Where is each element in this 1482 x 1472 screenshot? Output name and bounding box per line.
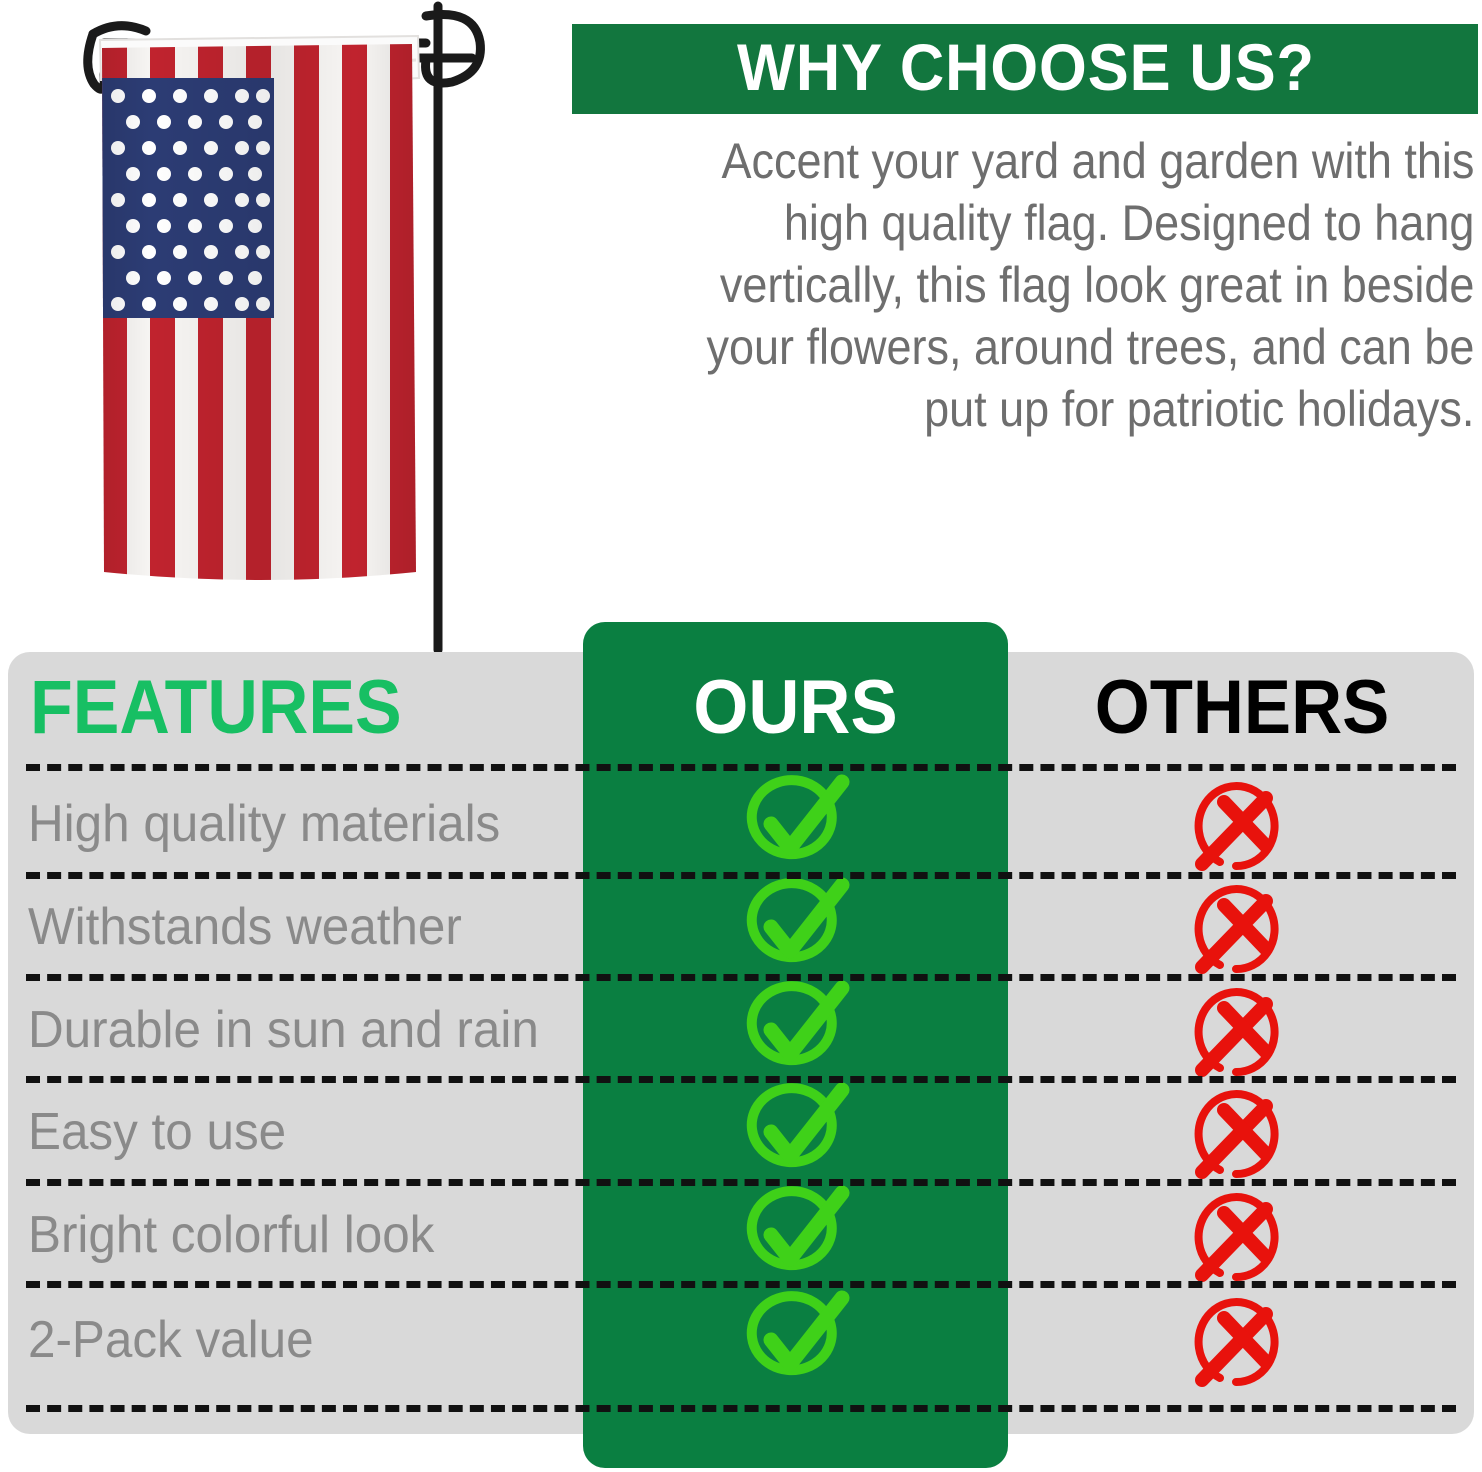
feature-label: Easy to use bbox=[28, 1082, 541, 1182]
row-divider bbox=[26, 1179, 1456, 1186]
x-circle-icon bbox=[1190, 1292, 1294, 1388]
feature-label: Durable in sun and rain bbox=[28, 980, 541, 1080]
ours-cell bbox=[583, 1082, 1008, 1182]
why-choose-us-title: WHY CHOOSE US? bbox=[617, 30, 1435, 104]
row-divider bbox=[26, 974, 1456, 981]
row-divider bbox=[26, 1405, 1456, 1412]
others-cell bbox=[1010, 1290, 1474, 1390]
check-circle-icon bbox=[738, 875, 854, 979]
table-row: Withstands weather bbox=[0, 877, 1482, 977]
garden-flag-image bbox=[60, 0, 500, 660]
ours-cell bbox=[583, 1290, 1008, 1390]
row-divider bbox=[26, 1076, 1456, 1083]
x-circle-icon bbox=[1190, 776, 1294, 872]
table-row: Bright colorful look bbox=[0, 1185, 1482, 1285]
check-circle-icon bbox=[738, 1080, 854, 1184]
table-row: Durable in sun and rain bbox=[0, 980, 1482, 1080]
flag-body bbox=[90, 40, 430, 585]
feature-label: High quality materials bbox=[28, 774, 541, 874]
table-row: 2-Pack value bbox=[0, 1290, 1482, 1390]
x-circle-icon bbox=[1190, 982, 1294, 1078]
x-circle-icon bbox=[1190, 1187, 1294, 1283]
column-header-ours: OURS bbox=[598, 652, 993, 764]
table-row: High quality materials bbox=[0, 774, 1482, 874]
others-cell bbox=[1010, 877, 1474, 977]
comparison-header-row: FEATURES OURS OTHERS bbox=[0, 652, 1482, 764]
x-circle-icon bbox=[1190, 879, 1294, 975]
column-header-others: OTHERS bbox=[1026, 652, 1458, 764]
others-cell bbox=[1010, 774, 1474, 874]
ours-cell bbox=[583, 1185, 1008, 1285]
row-divider bbox=[26, 1281, 1456, 1288]
feature-label: Withstands weather bbox=[28, 877, 541, 977]
row-divider bbox=[26, 764, 1456, 771]
check-circle-icon bbox=[738, 978, 854, 1082]
ours-cell bbox=[583, 877, 1008, 977]
comparison-table: FEATURES OURS OTHERS High quality materi… bbox=[0, 600, 1482, 1472]
check-circle-icon bbox=[738, 1183, 854, 1287]
ours-cell bbox=[583, 980, 1008, 1080]
others-cell bbox=[1010, 980, 1474, 1080]
column-header-features: FEATURES bbox=[30, 652, 508, 764]
row-divider bbox=[26, 872, 1456, 879]
x-circle-icon bbox=[1190, 1084, 1294, 1180]
others-cell bbox=[1010, 1082, 1474, 1182]
ours-cell bbox=[583, 774, 1008, 874]
why-choose-us-description: Accent your yard and garden with this hi… bbox=[663, 130, 1478, 440]
check-circle-icon bbox=[738, 772, 854, 876]
check-circle-icon bbox=[738, 1288, 854, 1392]
feature-label: 2-Pack value bbox=[28, 1290, 541, 1390]
table-row: Easy to use bbox=[0, 1082, 1482, 1182]
others-cell bbox=[1010, 1185, 1474, 1285]
feature-label: Bright colorful look bbox=[28, 1185, 541, 1285]
product-comparison-infographic: WHY CHOOSE US? Accent your yard and gard… bbox=[0, 0, 1482, 1472]
why-choose-us-block: WHY CHOOSE US? Accent your yard and gard… bbox=[572, 24, 1478, 440]
why-choose-us-banner: WHY CHOOSE US? bbox=[572, 24, 1478, 114]
